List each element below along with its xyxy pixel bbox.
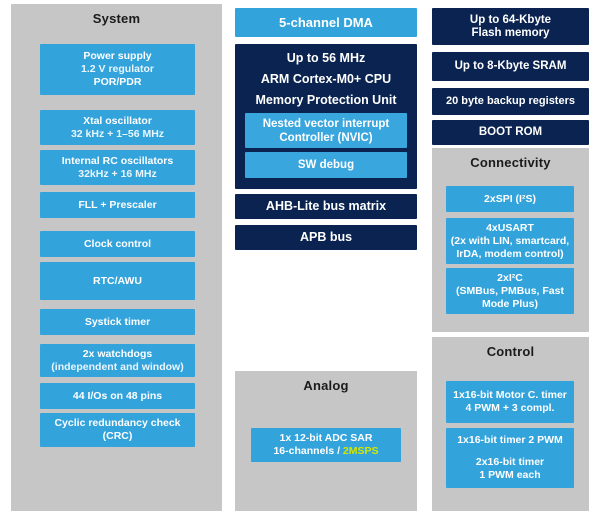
system-panel-title: System <box>11 4 222 30</box>
system-block-clock-control[interactable]: Clock control <box>40 231 195 257</box>
adc-block[interactable]: 1x 12-bit ADC SAR 16-channels / 2MSPS <box>251 428 401 462</box>
systick-label: Systick timer <box>85 316 150 329</box>
control-block-motor-timer[interactable]: 1x16-bit Motor C. timer 4 PWM + 3 compl. <box>446 381 574 423</box>
usart-line2: (2x with LIN, smartcard, <box>451 235 569 248</box>
crc-line2: (CRC) <box>103 430 133 443</box>
nvic-line1: Nested vector interrupt <box>263 117 390 131</box>
system-block-power-supply[interactable]: Power supply 1.2 V regulator POR/PDR <box>40 44 195 95</box>
fll-label: FLL + Prescaler <box>78 199 156 212</box>
spi-label: 2xSPI (I²S) <box>484 193 536 206</box>
system-block-crc[interactable]: Cyclic redundancy check (CRC) <box>40 413 195 447</box>
adc-line2-highlight: 2MSPS <box>343 445 379 457</box>
sram-label: Up to 8-Kbyte SRAM <box>455 60 567 73</box>
i2c-line2: (SMBus, PMBus, Fast <box>456 285 564 298</box>
ios-label: 44 I/Os on 48 pins <box>73 390 162 403</box>
system-block-rtc-awu[interactable]: RTC/AWU <box>40 262 195 300</box>
usart-line3: IrDA, modem control) <box>456 248 563 261</box>
clock-control-label: Clock control <box>84 238 151 251</box>
cpu-frequency-label: Up to 56 MHz <box>243 51 409 66</box>
analog-panel-title: Analog <box>235 371 417 397</box>
system-block-watchdogs[interactable]: 2x watchdogs (independent and window) <box>40 344 195 377</box>
i2c-line3: Mode Plus) <box>482 298 538 311</box>
connectivity-block-spi[interactable]: 2xSPI (I²S) <box>446 186 574 212</box>
motor-timer-line1: 1x16-bit Motor C. timer <box>453 389 567 402</box>
dma-block[interactable]: 5-channel DMA <box>235 8 417 37</box>
memory-block-backup-registers[interactable]: 20 byte backup registers <box>432 88 589 115</box>
usart-line1: 4xUSART <box>486 222 534 235</box>
boot-rom-label: BOOT ROM <box>479 126 542 139</box>
sw-debug-label: SW debug <box>298 159 354 172</box>
ahb-bus-label: AHB-Lite bus matrix <box>266 200 386 213</box>
system-block-ios[interactable]: 44 I/Os on 48 pins <box>40 383 195 409</box>
rtc-awu-label: RTC/AWU <box>93 275 142 288</box>
adc-line1: 1x 12-bit ADC SAR <box>280 432 373 445</box>
sw-debug-block[interactable]: SW debug <box>245 152 407 178</box>
cpu-core-label: ARM Cortex-M0+ CPU <box>243 72 409 87</box>
xtal-line1: Xtal oscillator <box>83 115 152 128</box>
system-block-fll-prescaler[interactable]: FLL + Prescaler <box>40 192 195 218</box>
general-timer-line4: 1 PWM each <box>479 469 540 482</box>
i2c-line1: 2xI²C <box>497 272 523 285</box>
power-supply-line1: Power supply <box>83 50 151 63</box>
backup-registers-label: 20 byte backup registers <box>446 95 575 108</box>
cpu-mpu-label: Memory Protection Unit <box>243 93 409 108</box>
ahb-bus-block[interactable]: AHB-Lite bus matrix <box>235 194 417 219</box>
system-block-systick-timer[interactable]: Systick timer <box>40 309 195 335</box>
xtal-line2: 32 kHz + 1–56 MHz <box>71 128 164 141</box>
watchdogs-line1: 2x watchdogs <box>83 348 152 361</box>
flash-line1: Up to 64-Kbyte <box>470 14 551 27</box>
general-timer-line3: 2x16-bit timer <box>476 456 544 469</box>
power-supply-line3: POR/PDR <box>94 76 142 89</box>
control-panel-title: Control <box>432 337 589 363</box>
crc-line1: Cyclic redundancy check <box>54 417 180 430</box>
adc-line2: 16-channels / 2MSPS <box>273 445 378 458</box>
flash-line2: Flash memory <box>472 27 550 40</box>
adc-line2-prefix: 16-channels / <box>273 445 342 457</box>
connectivity-block-usart[interactable]: 4xUSART (2x with LIN, smartcard, IrDA, m… <box>446 218 574 264</box>
system-block-xtal-oscillator[interactable]: Xtal oscillator 32 kHz + 1–56 MHz <box>40 110 195 145</box>
watchdogs-line2: (independent and window) <box>51 361 183 374</box>
control-block-general-timers[interactable]: 1x16-bit timer 2 PWM 2x16-bit timer 1 PW… <box>446 428 574 488</box>
general-timer-line1: 1x16-bit timer 2 PWM <box>457 434 563 447</box>
system-block-internal-rc-oscillators[interactable]: Internal RC oscillators 32kHz + 16 MHz <box>40 150 195 185</box>
rc-line1: Internal RC oscillators <box>62 155 173 168</box>
motor-timer-line2: 4 PWM + 3 compl. <box>466 402 555 415</box>
memory-block-boot-rom[interactable]: BOOT ROM <box>432 120 589 145</box>
memory-block-sram[interactable]: Up to 8-Kbyte SRAM <box>432 52 589 81</box>
nvic-line2: Controller (NVIC) <box>279 131 372 145</box>
memory-block-flash[interactable]: Up to 64-Kbyte Flash memory <box>432 8 589 45</box>
mcu-block-diagram: System Power supply 1.2 V regulator POR/… <box>0 0 600 524</box>
rc-line2: 32kHz + 16 MHz <box>78 168 157 181</box>
connectivity-panel-title: Connectivity <box>432 148 589 174</box>
connectivity-block-i2c[interactable]: 2xI²C (SMBus, PMBus, Fast Mode Plus) <box>446 268 574 314</box>
nvic-block[interactable]: Nested vector interrupt Controller (NVIC… <box>245 113 407 148</box>
dma-label: 5-channel DMA <box>279 16 373 29</box>
apb-bus-block[interactable]: APB bus <box>235 225 417 250</box>
apb-bus-label: APB bus <box>300 231 352 244</box>
power-supply-line2: 1.2 V regulator <box>81 63 154 76</box>
